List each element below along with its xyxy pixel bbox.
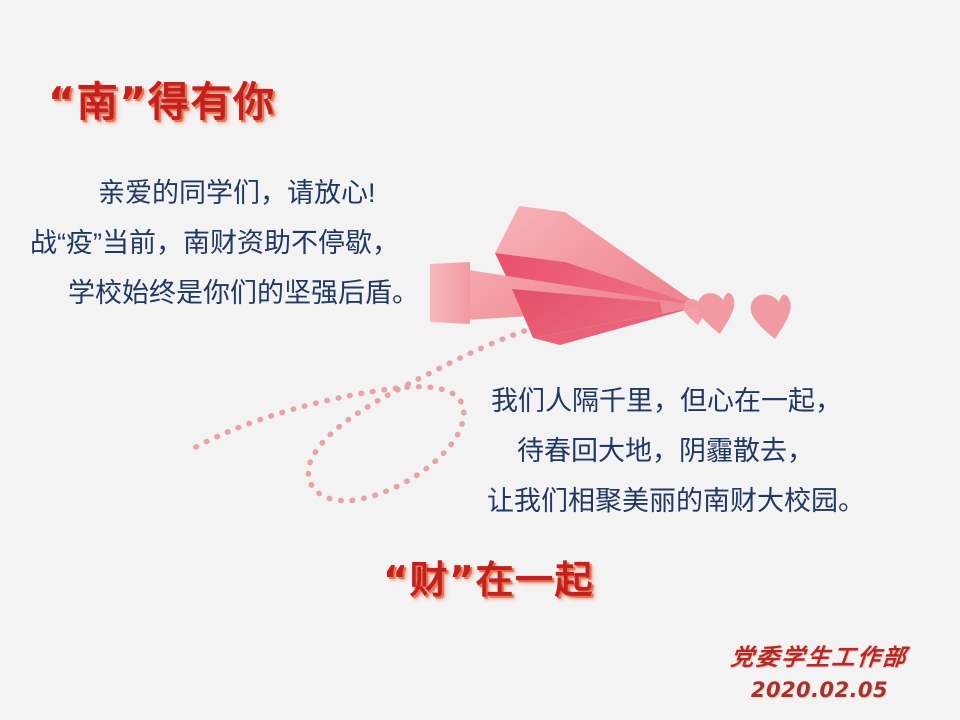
- poster-canvas: “南”得有你 亲爱的同学们，请放心! 战“疫”当前，南财资助不停歇， 学校始终是…: [0, 0, 960, 720]
- footer-signature: 党委学生工作部 2020.02.05: [731, 638, 908, 702]
- message-line: 战“疫”当前，南财资助不停歇，: [30, 218, 419, 268]
- heart-icon: [684, 299, 707, 325]
- message-line: 让我们相聚美丽的南财大校园。: [487, 476, 865, 526]
- footer-date: 2020.02.05: [731, 678, 908, 702]
- heart-icon: [698, 293, 735, 334]
- message-line: 亲爱的同学们，请放心!: [30, 168, 419, 218]
- paper-plane-illustration: [430, 206, 700, 345]
- message-line: 我们人隔千里，但心在一起，: [487, 376, 865, 426]
- heart-trail-illustration: [684, 293, 791, 339]
- message-block-top: 亲爱的同学们，请放心! 战“疫”当前，南财资助不停歇， 学校始终是你们的坚强后盾…: [30, 168, 419, 318]
- headline-top: “南”得有你: [48, 68, 276, 128]
- headline-bottom: “财”在一起: [383, 549, 594, 604]
- message-line: 学校始终是你们的坚强后盾。: [30, 268, 419, 318]
- message-block-bottom: 我们人隔千里，但心在一起， 待春回大地，阴霾散去， 让我们相聚美丽的南财大校园。: [487, 376, 865, 526]
- heart-icon: [751, 294, 791, 339]
- message-line: 待春回大地，阴霾散去，: [487, 426, 865, 476]
- footer-organization: 党委学生工作部: [729, 638, 910, 672]
